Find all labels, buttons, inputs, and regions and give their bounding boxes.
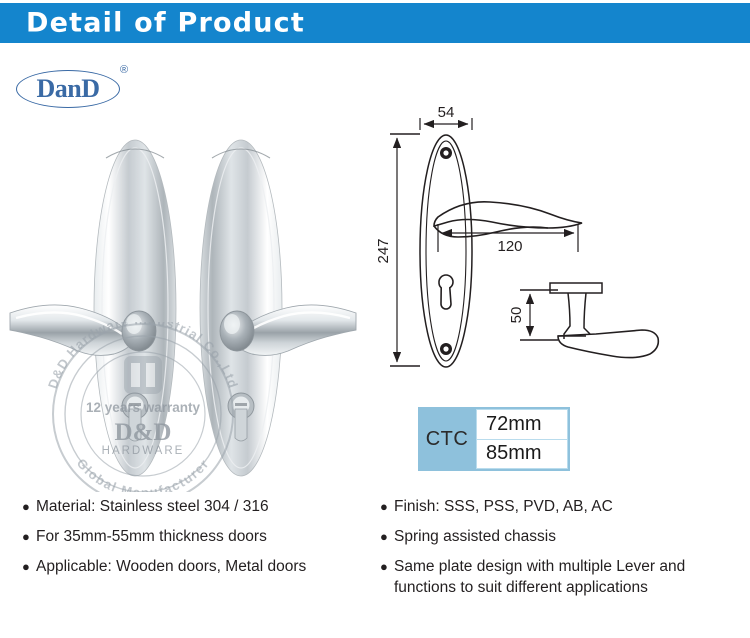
product-photo	[8, 118, 358, 488]
side-lever-outline	[550, 283, 658, 358]
bullet-icon: ●	[380, 556, 394, 577]
handle-right	[200, 140, 356, 476]
logo-text: DanD	[16, 70, 120, 108]
keyhole-icon	[439, 275, 453, 309]
dimension-label-247: 247	[375, 238, 392, 263]
ctc-value-85: 85mm	[476, 440, 568, 470]
screw-hole-bottom	[440, 343, 452, 355]
spec-column-right: ● Finish: SSS, PSS, PVD, AB, AC ● Spring…	[380, 496, 740, 607]
bullet-icon: ●	[22, 496, 36, 517]
dimension-label-54: 54	[438, 104, 455, 121]
brand-logo: DanD ®	[16, 58, 146, 110]
spec-text: For 35mm-55mm thickness doors	[36, 526, 372, 547]
bullet-icon: ●	[380, 496, 394, 517]
technical-drawing: 54 247 120	[372, 104, 742, 394]
spec-text: Material: Stainless steel 304 / 316	[36, 496, 372, 517]
dimension-label-50: 50	[508, 307, 525, 324]
spec-text: Same plate design with multiple Lever an…	[394, 556, 740, 598]
handle-left	[10, 140, 176, 476]
front-plate-outline	[420, 135, 472, 367]
ctc-table: CTC 72mm 85mm	[418, 407, 570, 471]
spec-item: ● Applicable: Wooden doors, Metal doors	[22, 556, 372, 577]
bullet-icon: ●	[380, 526, 394, 547]
spec-text: Spring assisted chassis	[394, 526, 740, 547]
screw-hole-top	[440, 147, 452, 159]
ctc-value-list: 72mm 85mm	[476, 407, 570, 471]
spec-text: Finish: SSS, PSS, PVD, AB, AC	[394, 496, 740, 517]
dimension-label-120: 120	[497, 238, 522, 255]
spec-text: Applicable: Wooden doors, Metal doors	[36, 556, 372, 577]
spec-item: ● Finish: SSS, PSS, PVD, AB, AC	[380, 496, 740, 517]
ctc-value-72: 72mm	[476, 409, 568, 440]
spec-column-left: ● Material: Stainless steel 304 / 316 ● …	[22, 496, 372, 586]
dimension-54	[390, 118, 472, 134]
spec-item: ● For 35mm-55mm thickness doors	[22, 526, 372, 547]
registered-trademark-icon: ®	[120, 64, 128, 76]
page-title: Detail of Product	[26, 8, 305, 39]
header-banner: Detail of Product	[0, 3, 750, 43]
spec-item: ● Same plate design with multiple Lever …	[380, 556, 740, 598]
bullet-icon: ●	[22, 526, 36, 547]
bullet-icon: ●	[22, 556, 36, 577]
dimension-247	[390, 138, 420, 366]
spec-item: ● Material: Stainless steel 304 / 316	[22, 496, 372, 517]
front-lever-outline	[434, 202, 582, 237]
spec-item: ● Spring assisted chassis	[380, 526, 740, 547]
ctc-label: CTC	[418, 407, 476, 471]
dimension-50	[520, 290, 558, 340]
